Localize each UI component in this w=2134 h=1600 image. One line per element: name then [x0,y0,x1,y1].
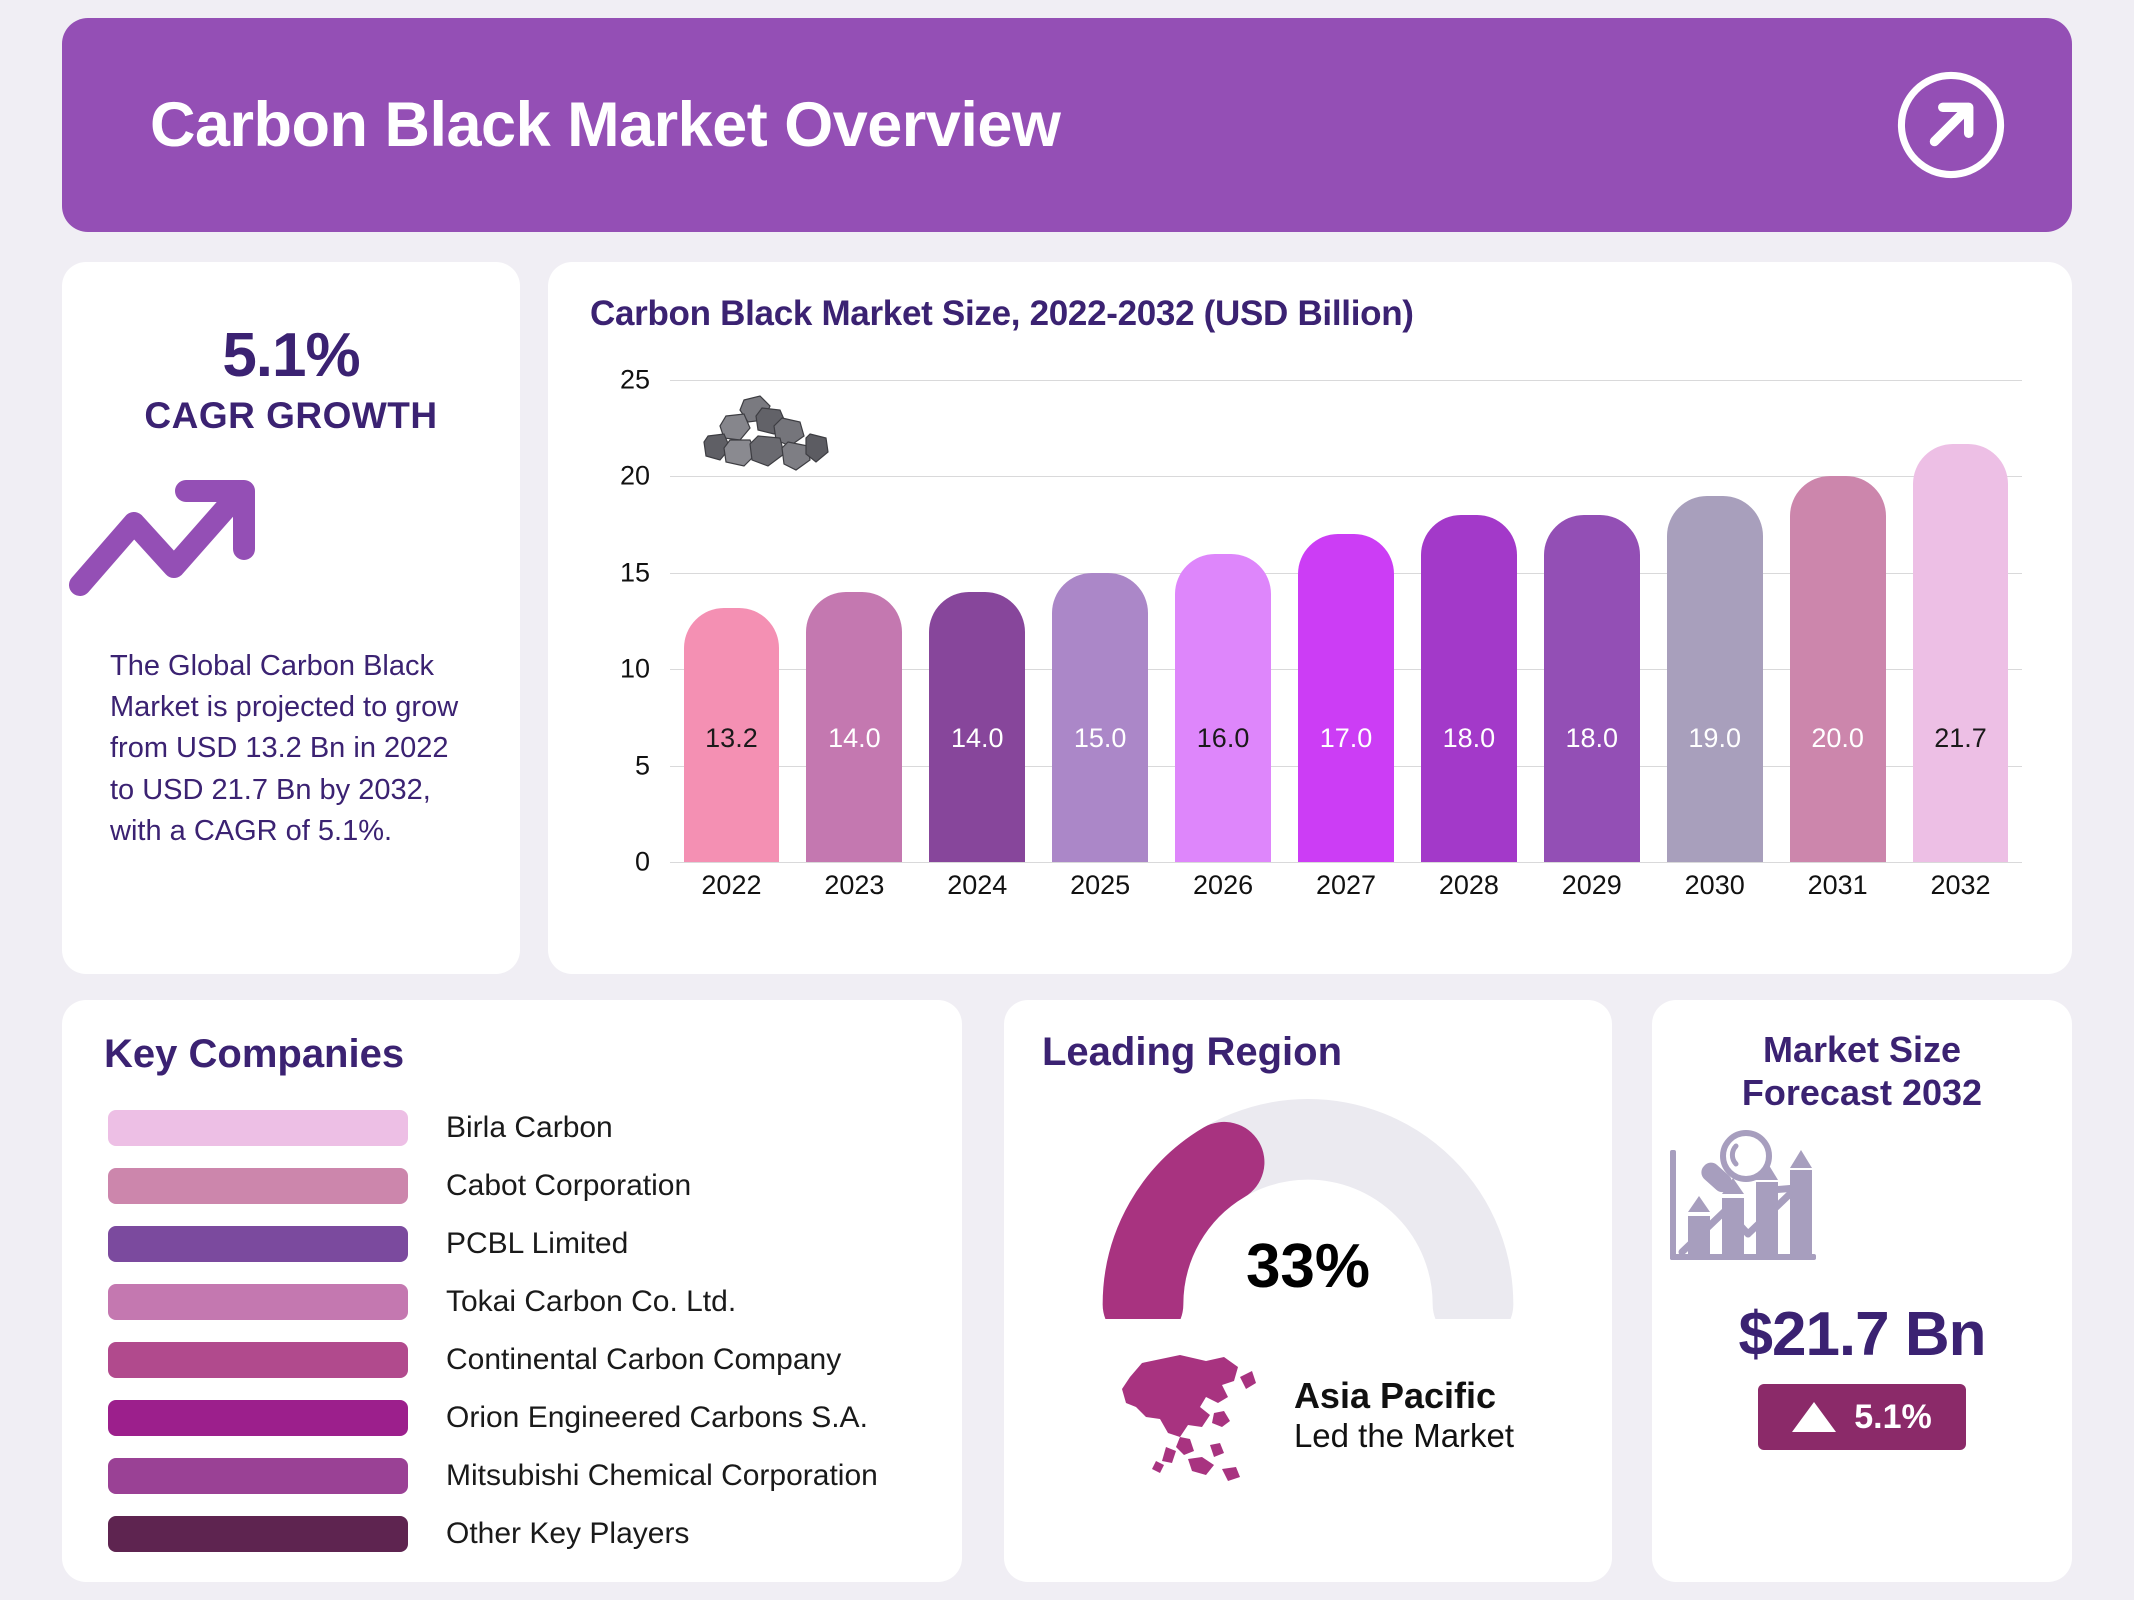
asia-pacific-map-icon [1102,1341,1272,1489]
bar-value-label: 18.0 [1566,723,1619,754]
company-name: Tokai Carbon Co. Ltd. [446,1285,736,1319]
region-name: Asia Pacific [1294,1375,1514,1416]
forecast-growth-badge: 5.1% [1758,1384,1966,1450]
chart-bar[interactable]: 18.0 [1544,515,1640,862]
key-companies-title: Key Companies [62,1000,962,1077]
region-share-gauge: 33% [1073,1099,1543,1319]
bar-value-label: 14.0 [951,723,1004,754]
x-axis-tick: 2024 [916,870,1039,901]
bar-slot: 14.0 [793,380,916,862]
chart-bar[interactable]: 21.7 [1913,444,2009,862]
market-size-forecast-card: Market Size Forecast 2032 [1652,1000,2072,1582]
x-axis-tick: 2027 [1285,870,1408,901]
cagr-description: The Global Carbon Black Market is projec… [62,606,520,852]
bar-slot: 18.0 [1530,380,1653,862]
bar-slot: 18.0 [1407,380,1530,862]
bar-slot: 15.0 [1039,380,1162,862]
company-color-swatch [108,1458,408,1494]
bar-slot: 21.7 [1899,380,2022,862]
company-color-swatch [108,1226,408,1262]
leading-region-card: Leading Region 33% [1004,1000,1612,1582]
chart-bar[interactable]: 18.0 [1421,515,1517,862]
chart-bar[interactable]: 14.0 [929,592,1025,862]
company-name: Mitsubishi Chemical Corporation [446,1459,878,1493]
chart-bar[interactable]: 16.0 [1175,554,1271,862]
company-color-swatch [108,1284,408,1320]
bar-slot: 17.0 [1285,380,1408,862]
y-axis-tick: 25 [620,365,650,396]
x-axis-tick: 2029 [1530,870,1653,901]
gauge-percent-value: 33% [1073,1231,1543,1302]
list-item[interactable]: Orion Engineered Carbons S.A. [108,1389,962,1447]
triangle-up-icon [1792,1402,1836,1432]
chart-bar[interactable]: 14.0 [806,592,902,862]
bar-value-label: 18.0 [1443,723,1496,754]
x-axis-tick: 2026 [1162,870,1285,901]
bar-value-label: 15.0 [1074,723,1127,754]
key-companies-list: Birla CarbonCabot CorporationPCBL Limite… [62,1077,962,1563]
y-axis-tick: 20 [620,461,650,492]
chart-bar[interactable]: 13.2 [684,608,780,862]
list-item[interactable]: Mitsubishi Chemical Corporation [108,1447,962,1505]
bar-value-label: 19.0 [1688,723,1741,754]
list-item[interactable]: Other Key Players [108,1505,962,1563]
region-subtitle: Led the Market [1294,1417,1514,1455]
company-color-swatch [108,1400,408,1436]
x-axis-tick: 2032 [1899,870,2022,901]
market-size-chart-card: Carbon Black Market Size, 2022-2032 (USD… [548,262,2072,974]
chart-bar[interactable]: 17.0 [1298,534,1394,862]
infographic-page: Carbon Black Market Overview 5.1% CAGR G… [0,0,2134,1600]
company-name: Orion Engineered Carbons S.A. [446,1401,868,1435]
region-summary: Asia Pacific Led the Market [1004,1341,1612,1489]
list-item[interactable]: Birla Carbon [108,1099,962,1157]
forecast-title: Market Size Forecast 2032 [1652,1000,2072,1114]
bar-slot: 13.2 [670,380,793,862]
bar-value-label: 16.0 [1197,723,1250,754]
bar-slot: 20.0 [1776,380,1899,862]
forecast-badge-text: 5.1% [1854,1398,1932,1437]
forecast-title-line2: Forecast 2032 [1742,1072,1982,1113]
company-color-swatch [108,1168,408,1204]
bar-value-label: 14.0 [828,723,881,754]
chart-bars: 13.214.014.015.016.017.018.018.019.020.0… [670,380,2022,862]
company-color-swatch [108,1342,408,1378]
leading-region-title: Leading Region [1004,1000,1612,1075]
bar-value-label: 13.2 [705,723,758,754]
forecast-value: $21.7 Bn [1652,1299,2072,1370]
bar-chart-plot: 0510152025 13.21 [590,380,2030,940]
cagr-card: 5.1% CAGR GROWTH The Global Carbon Black… [62,262,520,974]
x-axis-tick: 2030 [1653,870,1776,901]
company-name: Birla Carbon [446,1111,613,1145]
y-axis-tick: 15 [620,557,650,588]
x-axis-tick: 2023 [793,870,916,901]
cagr-value: 5.1% [62,320,520,391]
cagr-label: CAGR GROWTH [62,395,520,437]
y-axis-tick: 10 [620,654,650,685]
company-name: Cabot Corporation [446,1169,691,1203]
y-axis-tick: 5 [635,750,650,781]
list-item[interactable]: Cabot Corporation [108,1157,962,1215]
bar-value-label: 20.0 [1811,723,1864,754]
y-axis-tick: 0 [635,847,650,878]
key-companies-card: Key Companies Birla CarbonCabot Corporat… [62,1000,962,1582]
company-color-swatch [108,1110,408,1146]
list-item[interactable]: Continental Carbon Company [108,1331,962,1389]
bar-slot: 19.0 [1653,380,1776,862]
market-growth-analysis-icon [1652,1130,2072,1285]
y-axis: 0510152025 [590,380,664,862]
company-color-swatch [108,1516,408,1552]
growth-arrow-icon [62,471,520,606]
x-axis-tick: 2025 [1039,870,1162,901]
forecast-title-line1: Market Size [1763,1029,1961,1070]
region-text-block: Asia Pacific Led the Market [1294,1375,1514,1454]
page-title: Carbon Black Market Overview [90,89,1060,161]
company-name: Continental Carbon Company [446,1343,841,1377]
chart-bar[interactable]: 15.0 [1052,573,1148,862]
x-axis-labels: 2022202320242025202620272028202920302031… [670,870,2022,901]
list-item[interactable]: PCBL Limited [108,1215,962,1273]
chart-bar[interactable]: 20.0 [1790,476,1886,862]
page-header: Carbon Black Market Overview [62,18,2072,232]
x-axis-tick: 2031 [1776,870,1899,901]
bar-value-label: 17.0 [1320,723,1373,754]
bar-slot: 14.0 [916,380,1039,862]
arrow-up-right-circle-icon[interactable] [1892,66,2010,184]
bar-value-label: 21.7 [1934,723,1987,754]
bar-slot: 16.0 [1162,380,1285,862]
x-axis-tick: 2022 [670,870,793,901]
company-name: PCBL Limited [446,1227,628,1261]
company-name: Other Key Players [446,1517,689,1551]
x-axis-tick: 2028 [1407,870,1530,901]
gridline [670,862,2022,863]
chart-bar[interactable]: 19.0 [1667,496,1763,862]
list-item[interactable]: Tokai Carbon Co. Ltd. [108,1273,962,1331]
chart-title: Carbon Black Market Size, 2022-2032 (USD… [548,262,2072,334]
